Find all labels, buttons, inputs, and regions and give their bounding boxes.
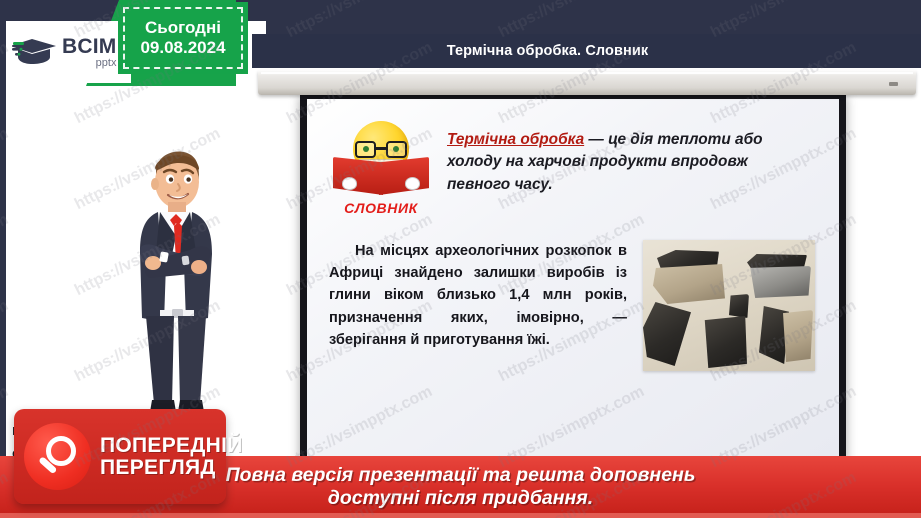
brand-logo[interactable]: BCIM pptx — [6, 21, 131, 83]
magnifier-icon — [24, 423, 91, 490]
roller-knob — [889, 82, 898, 86]
definition-text: Термічна обробка — це дія теплоти або хо… — [447, 121, 815, 196]
date-value: 09.08.2024 — [140, 38, 225, 58]
slide-stage: BCIM pptx Сьогодні 09.08.2024 Термічна о… — [0, 0, 921, 518]
graduation-cap-icon — [12, 35, 60, 69]
dictionary-caption: СЛОВНИК — [329, 200, 433, 216]
preview-badge-line-1: ПОПЕРЕДНІЙ — [100, 435, 243, 456]
slide-content: СЛОВНИК Термічна обробка — це дія теплот… — [307, 99, 839, 462]
banner-line-2: доступні після придбання. — [328, 487, 593, 510]
date-label: Сьогодні — [145, 18, 221, 38]
banner-underline — [0, 513, 921, 518]
definition-term: Термічна обробка — [447, 131, 584, 148]
pottery-shards-photo — [643, 240, 815, 371]
preview-badge[interactable]: ПОПЕРЕДНІЙ ПЕРЕГЛЯД — [14, 409, 226, 504]
book-reading-emoji-icon: СЛОВНИК — [329, 121, 433, 216]
definition-dash: — — [584, 131, 608, 148]
fact-row: На місцях археологічних розкопок в Африц… — [329, 240, 815, 371]
preview-badge-line-2: ПЕРЕГЛЯД — [100, 457, 243, 478]
page-title: Термічна обробка. Словник — [447, 43, 726, 59]
businessman-3d-character — [120, 132, 230, 422]
logo-wordmark: BCIM — [62, 36, 116, 57]
today-date-badge: Сьогодні 09.08.2024 — [118, 2, 248, 74]
banner-line-1: Повна версія презентації та решта доповн… — [226, 464, 696, 487]
projector-screen-frame: СЛОВНИК Термічна обробка — це дія теплот… — [300, 93, 846, 462]
logo-suffix: pptx — [62, 58, 116, 69]
fact-text: На місцях археологічних розкопок в Африц… — [329, 240, 627, 351]
projector-screen-canvas: СЛОВНИК Термічна обробка — це дія теплот… — [307, 99, 839, 462]
projector-roller-casing — [258, 70, 916, 95]
definition-row: СЛОВНИК Термічна обробка — це дія теплот… — [329, 121, 815, 216]
slide-title-bar: Термічна обробка. Словник — [252, 34, 921, 68]
